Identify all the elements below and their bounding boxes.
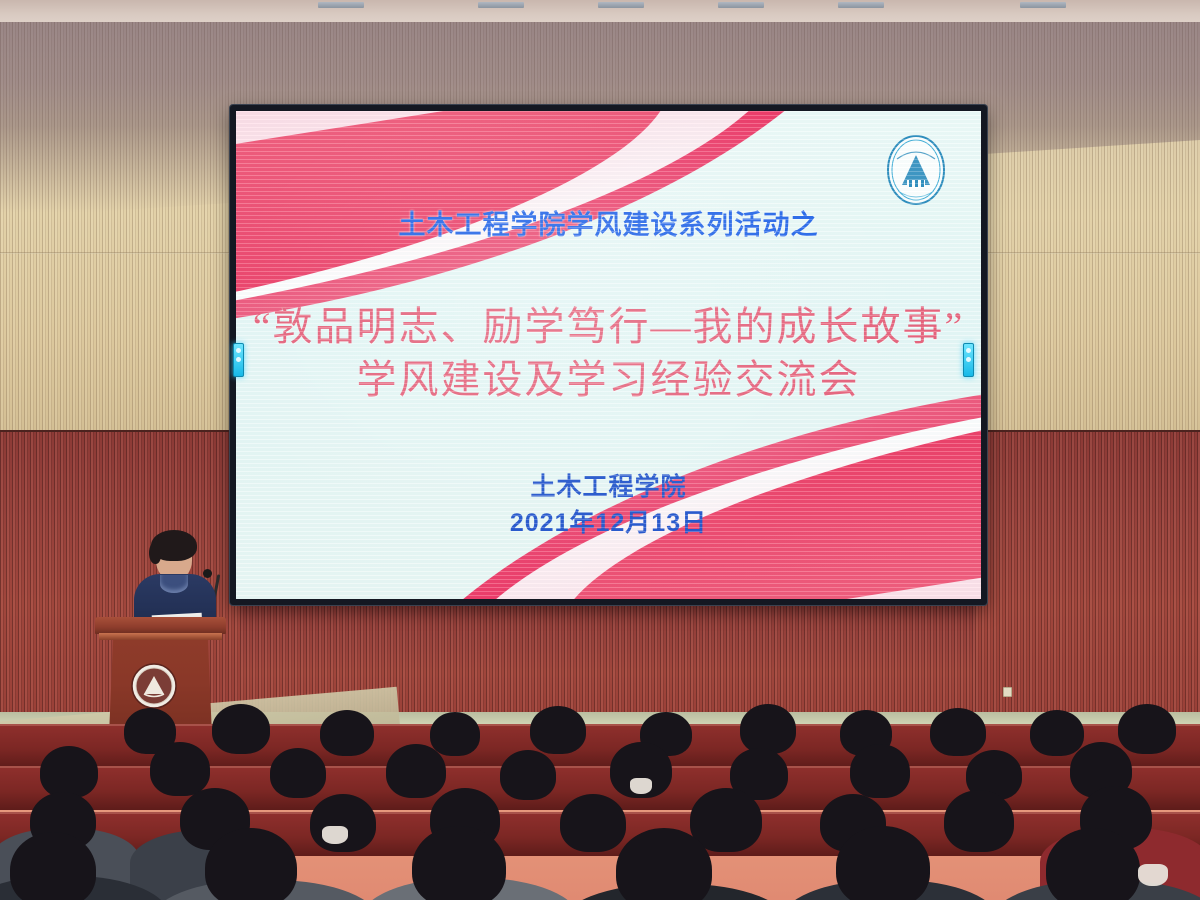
- audience-head: [430, 712, 480, 756]
- screen-status-led-right[interactable]: [963, 343, 974, 377]
- audience-head: [500, 750, 556, 800]
- presenter-collar: [160, 575, 188, 593]
- audience-head: [150, 742, 210, 796]
- projection-screen: 土木工程学院学风建设系列活动之 “敦品明志、励学笃行—我的成长故事” 学风建设及…: [230, 105, 987, 605]
- audience-head: [930, 708, 986, 756]
- audience-head: [740, 704, 796, 754]
- audience-head: [212, 704, 270, 754]
- audience-head: [310, 794, 376, 852]
- slide-text-block: 土木工程学院学风建设系列活动之 “敦品明志、励学笃行—我的成长故事” 学风建设及…: [236, 111, 981, 599]
- audience-head: [1118, 704, 1176, 754]
- slide-canvas: 土木工程学院学风建设系列活动之 “敦品明志、励学笃行—我的成长故事” 学风建设及…: [236, 111, 981, 599]
- slide-title-line1: “敦品明志、励学笃行—我的成长故事”: [236, 294, 981, 352]
- face-mask: [630, 778, 652, 794]
- audience-head: [40, 746, 98, 798]
- audience-head: [1046, 828, 1140, 900]
- slide-organization: 土木工程学院: [236, 467, 981, 503]
- slide-host-line: 土木工程学院学风建设系列活动之: [236, 203, 981, 242]
- ceiling-light-icon: [478, 2, 524, 8]
- audience-head: [320, 710, 374, 756]
- podium-top-surface: [95, 617, 226, 634]
- audience-head: [850, 744, 910, 798]
- slide-date: 2021年12月13日: [236, 503, 981, 539]
- audience-head: [386, 744, 446, 798]
- wall-socket: [1003, 687, 1012, 697]
- presenter: [132, 530, 220, 630]
- face-mask: [322, 826, 348, 844]
- audience-head: [836, 826, 930, 900]
- microphone-icon: [203, 569, 212, 578]
- ceiling-light-icon: [718, 2, 764, 8]
- podium-lip: [99, 633, 222, 640]
- lecture-hall-scene: 土木工程学院学风建设系列活动之 “敦品明志、励学笃行—我的成长故事” 学风建设及…: [0, 0, 1200, 900]
- ceiling-light-icon: [838, 2, 884, 8]
- audience-head: [270, 748, 326, 798]
- ceiling-light-icon: [318, 2, 364, 8]
- audience-head: [412, 826, 506, 900]
- audience-head: [560, 794, 626, 852]
- screen-status-led-left[interactable]: [233, 343, 244, 377]
- presenter-hair: [151, 530, 197, 561]
- stage-wall-right: [975, 430, 1200, 720]
- audience-head: [205, 828, 297, 900]
- audience-head: [944, 790, 1014, 852]
- audience-head: [10, 832, 96, 900]
- face-mask: [1138, 864, 1168, 886]
- ceiling-light-icon: [598, 2, 644, 8]
- seated-audience: [0, 700, 1200, 900]
- slide-title-line2: 学风建设及学习经验交流会: [236, 347, 981, 405]
- ceiling-light-icon: [1020, 2, 1066, 8]
- audience-head: [530, 706, 586, 754]
- audience-head: [1030, 710, 1084, 756]
